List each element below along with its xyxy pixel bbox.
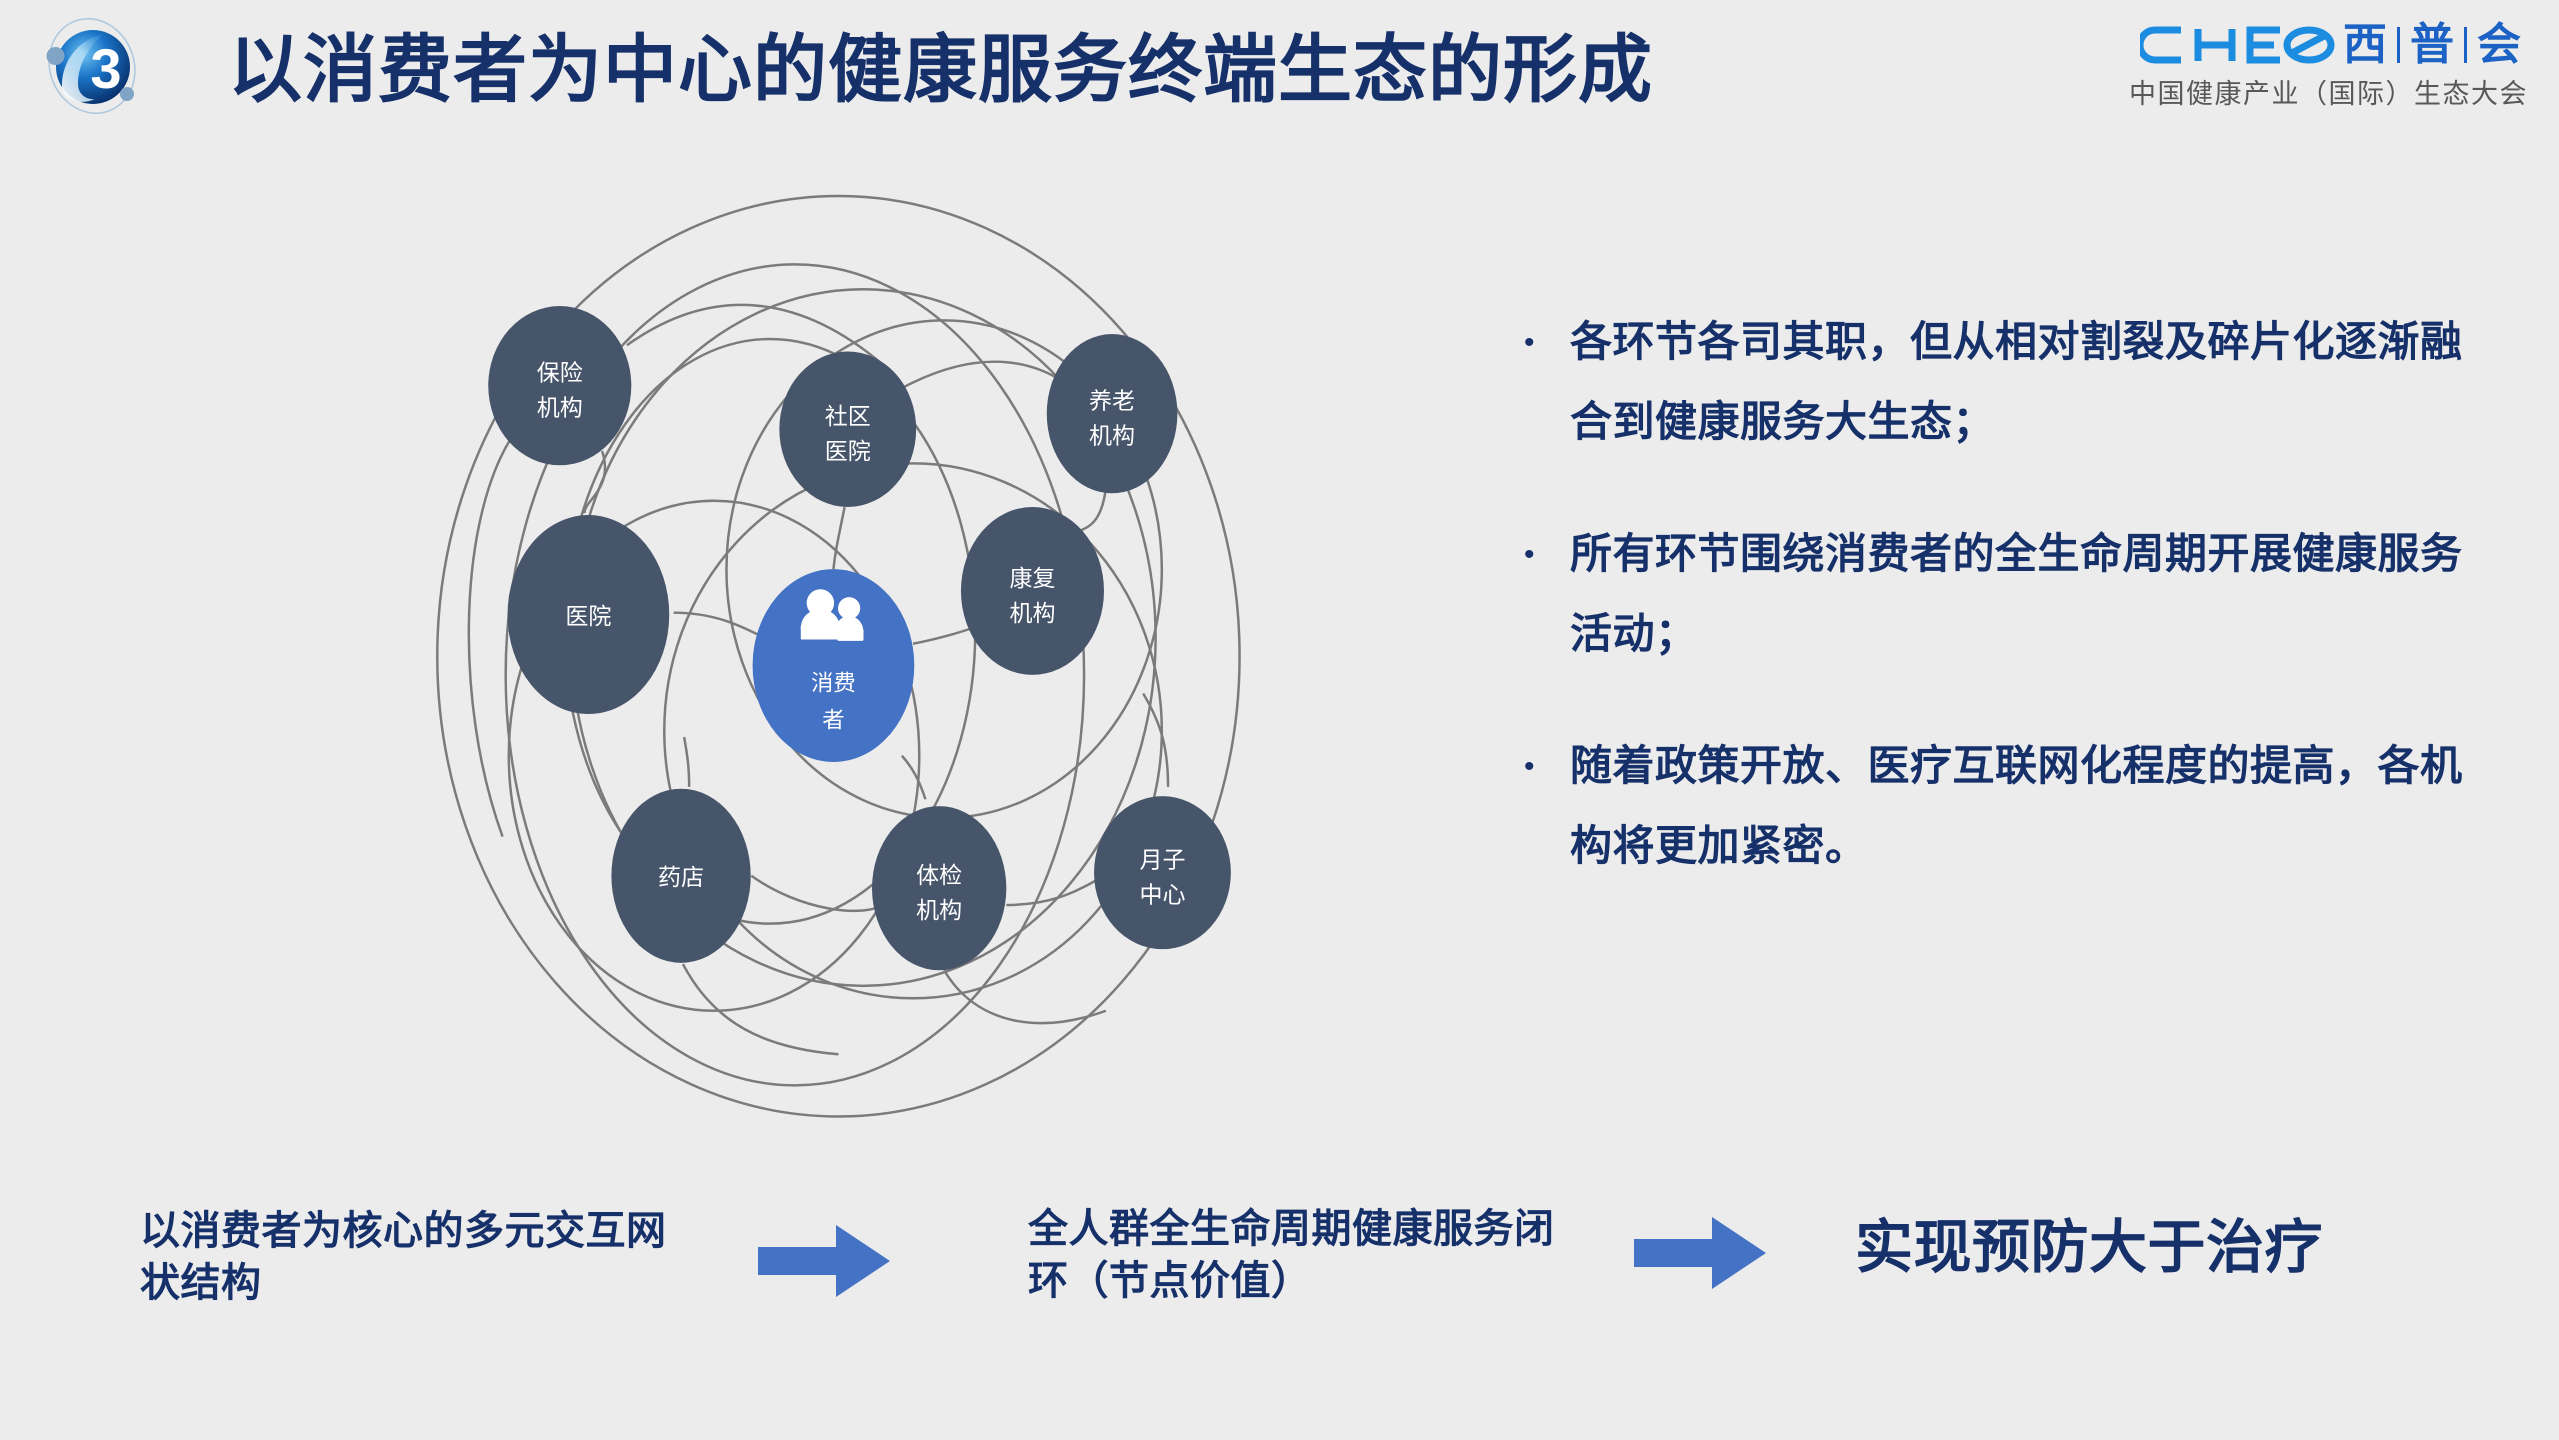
node-checkup-label-line2: 机构	[916, 897, 962, 923]
node-consumer-label-line1: 消费	[811, 670, 856, 695]
node-community-label-line1: 社区	[825, 403, 871, 429]
diagram-node-checkup[interactable]: 体检 机构	[872, 806, 1006, 970]
logo-mark: 西 普 会	[2129, 18, 2521, 72]
bottom-text-2: 全人群全生命周期健康服务闭环（节点价值）	[1028, 1203, 1588, 1307]
bullet-item: • 各环节各司其职，但从相对割裂及碎片化逐渐融合到健康服务大生态；	[1524, 302, 2484, 462]
bottom-text-1: 以消费者为核心的多元交互网状结构	[140, 1205, 700, 1309]
node-checkup-label-line1: 体检	[916, 862, 962, 888]
bullet-text-2: 所有环节围绕消费者的全生命周期开展健康服务活动；	[1570, 514, 2484, 674]
node-consumer-label-line2: 者	[822, 708, 844, 733]
bullet-text-1: 各环节各司其职，但从相对割裂及碎片化逐渐融合到健康服务大生态；	[1570, 302, 2484, 462]
page-title: 以消费者为中心的健康服务终端生态的形成	[228, 22, 1653, 118]
diagram-node-consumer[interactable]: 消费 者	[753, 569, 915, 762]
bullet-item: • 随着政策开放、医疗互联网化程度的提高，各机构将更加紧密。	[1524, 726, 2484, 886]
diagram-node-pharmacy[interactable]: 药店	[611, 789, 750, 963]
node-postpartum-label-line1: 月子	[1139, 847, 1185, 873]
right-arrow-icon	[758, 1223, 890, 1299]
node-pharmacy-label-line1: 药店	[658, 864, 704, 890]
logo-cn-2: 普	[2410, 22, 2454, 68]
slide-header: 3 以消费者为中心的健康服务终端生态的形成	[0, 0, 2559, 140]
badge-number-icon: 3	[38, 14, 146, 118]
cheo-wordmark-icon	[2140, 22, 2336, 68]
bullet-text-3: 随着政策开放、医疗互联网化程度的提高，各机构将更加紧密。	[1570, 726, 2484, 886]
bullet-marker-icon: •	[1524, 514, 1570, 570]
node-rehab-label-line1: 康复	[1009, 565, 1055, 591]
conference-logo: 西 普 会 中国健康产业（国际）生态大会	[2129, 18, 2521, 110]
ecosystem-network-diagram: 消费 者 保险 机构 社区 医院 养老 机构 医院	[120, 140, 1420, 1160]
logo-subtitle: 中国健康产业（国际）生态大会	[2129, 78, 2521, 110]
bottom-text-3: 实现预防大于治疗	[1855, 1213, 2475, 1283]
node-postpartum-label-line2: 中心	[1139, 882, 1185, 908]
node-elderly-label-line1: 养老	[1089, 388, 1135, 414]
logo-cn-1: 西	[2343, 22, 2387, 68]
node-insurance-label-line2: 机构	[537, 395, 583, 421]
right-arrow-icon	[1634, 1215, 1766, 1291]
node-elderly-label-line2: 机构	[1089, 423, 1135, 449]
diagram-node-elderly-care[interactable]: 养老 机构	[1047, 334, 1178, 493]
bottom-flow-strip: 以消费者为核心的多元交互网状结构 全人群全生命周期健康服务闭环（节点价值） 实现…	[0, 1185, 2559, 1365]
logo-cn-3: 会	[2477, 22, 2521, 68]
bullet-item: • 所有环节围绕消费者的全生命周期开展健康服务活动；	[1524, 514, 2484, 674]
bullet-marker-icon: •	[1524, 726, 1570, 782]
diagram-node-rehab[interactable]: 康复 机构	[961, 507, 1104, 675]
logo-divider-2	[2464, 27, 2467, 63]
diagram-node-community-hospital[interactable]: 社区 医院	[779, 351, 916, 506]
slide-canvas: 3 以消费者为中心的健康服务终端生态的形成	[0, 0, 2559, 1440]
node-insurance-label-line1: 保险	[537, 360, 583, 386]
bullet-marker-icon: •	[1524, 302, 1570, 358]
diagram-node-postpartum-center[interactable]: 月子 中心	[1094, 796, 1231, 949]
node-hospital-label-line1: 医院	[565, 603, 611, 629]
svg-text:3: 3	[90, 37, 121, 100]
node-rehab-label-line2: 机构	[1009, 600, 1055, 626]
diagram-node-hospital[interactable]: 医院	[508, 515, 670, 714]
bullet-list: • 各环节各司其职，但从相对割裂及碎片化逐渐融合到健康服务大生态； • 所有环节…	[1524, 302, 2484, 938]
node-community-label-line2: 医院	[825, 438, 871, 464]
logo-divider-1	[2397, 27, 2400, 63]
diagram-node-insurance[interactable]: 保险 机构	[488, 306, 631, 465]
